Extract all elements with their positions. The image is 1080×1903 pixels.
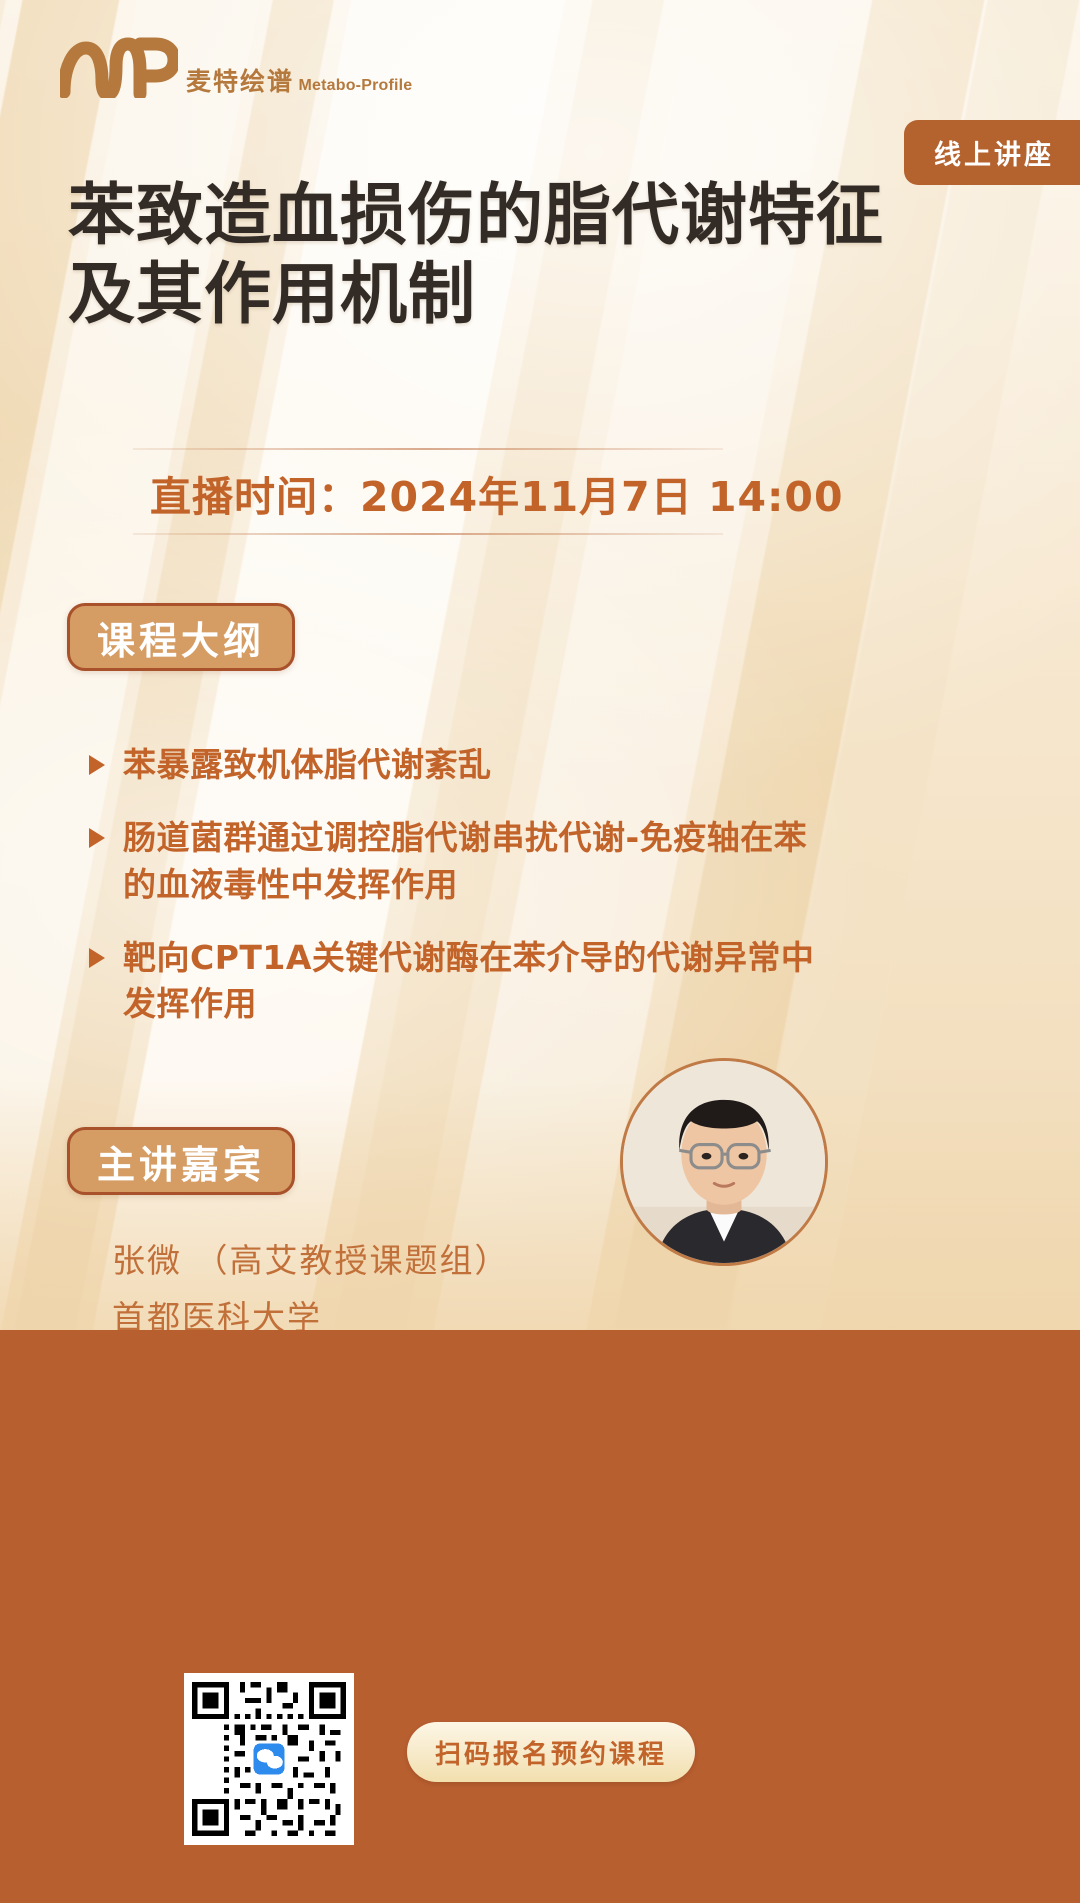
list-item: 肠道菌群通过调控脂代谢串扰代谢-免疫轴在苯的血液毒性中发挥作用 (80, 815, 840, 909)
outline-item-text: 肠道菌群通过调控脂代谢串扰代谢-免疫轴在苯的血液毒性中发挥作用 (123, 815, 840, 909)
list-item: 靶向CPT1A关键代谢酶在苯介导的代谢异常中发挥作用 (80, 935, 840, 1029)
brand-name-en: Metabo-Profile (298, 77, 412, 94)
outline-item-text: 靶向CPT1A关键代谢酶在苯介导的代谢异常中发挥作用 (123, 935, 840, 1029)
course-outline-badge: 课程大纲 (67, 603, 295, 671)
triangle-bullet-icon (89, 948, 105, 968)
avatar (620, 1058, 828, 1266)
live-time-text: 直播时间：2024年11月7日 14:00 (133, 450, 723, 533)
qr-code-panel[interactable] (184, 1673, 354, 1845)
page-title: 苯致造血损伤的脂代谢特征 及其作用机制 (68, 176, 988, 334)
list-item: 苯暴露致机体脂代谢紊乱 (80, 742, 840, 789)
title-line-1: 苯致造血损伤的脂代谢特征 (68, 176, 884, 254)
brand-name-cn: 麦特绘谱 (186, 67, 294, 96)
mp-monogram-icon (60, 36, 178, 98)
live-time-block: 直播时间：2024年11月7日 14:00 (133, 448, 723, 535)
triangle-bullet-icon (89, 755, 105, 775)
footer-bar (0, 1330, 1080, 1903)
triangle-bullet-icon (89, 828, 105, 848)
outline-item-text: 苯暴露致机体脂代谢紊乱 (123, 742, 492, 789)
course-outline-list: 苯暴露致机体脂代谢紊乱 肠道菌群通过调控脂代谢串扰代谢-免疫轴在苯的血液毒性中发… (80, 742, 840, 1054)
title-line-2: 及其作用机制 (68, 255, 988, 334)
speaker-name: 张微 （高艾教授课题组） (112, 1234, 510, 1282)
keynote-speaker-badge: 主讲嘉宾 (67, 1127, 295, 1195)
brand-logo: 麦特绘谱 Metabo-Profile (60, 36, 412, 98)
poster-root: 麦特绘谱 Metabo-Profile 线上讲座 苯致造血损伤的脂代谢特征 及其… (0, 0, 1080, 1903)
time-rule-bottom (133, 533, 723, 535)
register-cta-button[interactable]: 扫码报名预约课程 (407, 1722, 695, 1782)
